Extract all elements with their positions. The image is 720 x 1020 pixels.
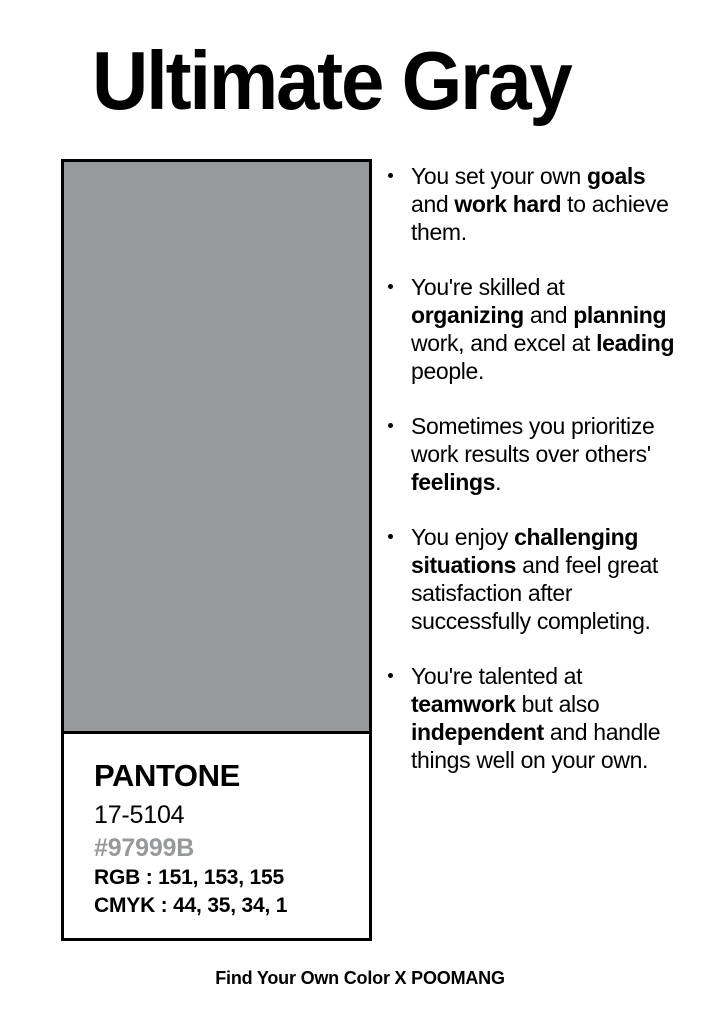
pantone-hex-value: #97999B <box>94 833 369 864</box>
trait-emphasis: leading <box>596 330 674 356</box>
trait-text: You're skilled at organizing and plannin… <box>411 274 674 384</box>
trait-emphasis: feelings <box>411 469 495 495</box>
pantone-code: 17-5104 <box>94 800 369 831</box>
trait-item: You're talented at teamwork but also ind… <box>386 662 676 774</box>
trait-text: Sometimes you prioritize work results ov… <box>411 413 654 495</box>
bullet-dot-icon <box>388 173 393 178</box>
trait-emphasis: goals <box>587 163 645 189</box>
bullet-dot-icon <box>388 284 393 289</box>
pantone-swatch-card: PANTONE 17-5104 #97999B RGB : 151, 153, … <box>61 159 372 941</box>
trait-item: You set your own goals and work hard to … <box>386 162 676 246</box>
trait-plain: You're talented at <box>411 663 582 689</box>
trait-plain: You enjoy <box>411 524 514 550</box>
pantone-rgb-value: RGB : 151, 153, 155 <box>94 864 369 892</box>
trait-item: Sometimes you prioritize work results ov… <box>386 412 676 496</box>
trait-emphasis: work hard <box>454 191 561 217</box>
pantone-brand-label: PANTONE <box>94 760 369 791</box>
trait-item: You're skilled at organizing and plannin… <box>386 273 676 385</box>
trait-text: You set your own goals and work hard to … <box>411 163 669 245</box>
bullet-dot-icon <box>388 673 393 678</box>
trait-emphasis: organizing <box>411 302 524 328</box>
trait-emphasis: teamwork <box>411 691 516 717</box>
trait-plain: work, and excel at <box>411 330 596 356</box>
trait-emphasis: independent <box>411 719 544 745</box>
bullet-dot-icon <box>388 534 393 539</box>
pantone-info-block: PANTONE 17-5104 #97999B RGB : 151, 153, … <box>64 734 369 938</box>
traits-list: You set your own goals and work hard to … <box>386 162 676 774</box>
trait-plain: Sometimes you prioritize work results ov… <box>411 413 654 467</box>
trait-plain: and <box>524 302 573 328</box>
pantone-cmyk-value: CMYK : 44, 35, 34, 1 <box>94 892 369 920</box>
footer-credit: Find Your Own Color X POOMANG <box>0 968 720 989</box>
trait-text: You enjoy challenging situations and fee… <box>411 524 658 634</box>
trait-plain: but also <box>516 691 600 717</box>
trait-plain: . <box>495 469 501 495</box>
trait-plain: You're skilled at <box>411 274 565 300</box>
trait-plain: people. <box>411 358 484 384</box>
trait-emphasis: planning <box>573 302 666 328</box>
trait-plain: and <box>411 191 454 217</box>
page-title: Ultimate Gray <box>92 38 652 125</box>
trait-text: You're talented at teamwork but also ind… <box>411 663 660 773</box>
trait-item: You enjoy challenging situations and fee… <box>386 523 676 635</box>
bullet-dot-icon <box>388 423 393 428</box>
trait-plain: You set your own <box>411 163 587 189</box>
color-swatch <box>64 162 369 731</box>
